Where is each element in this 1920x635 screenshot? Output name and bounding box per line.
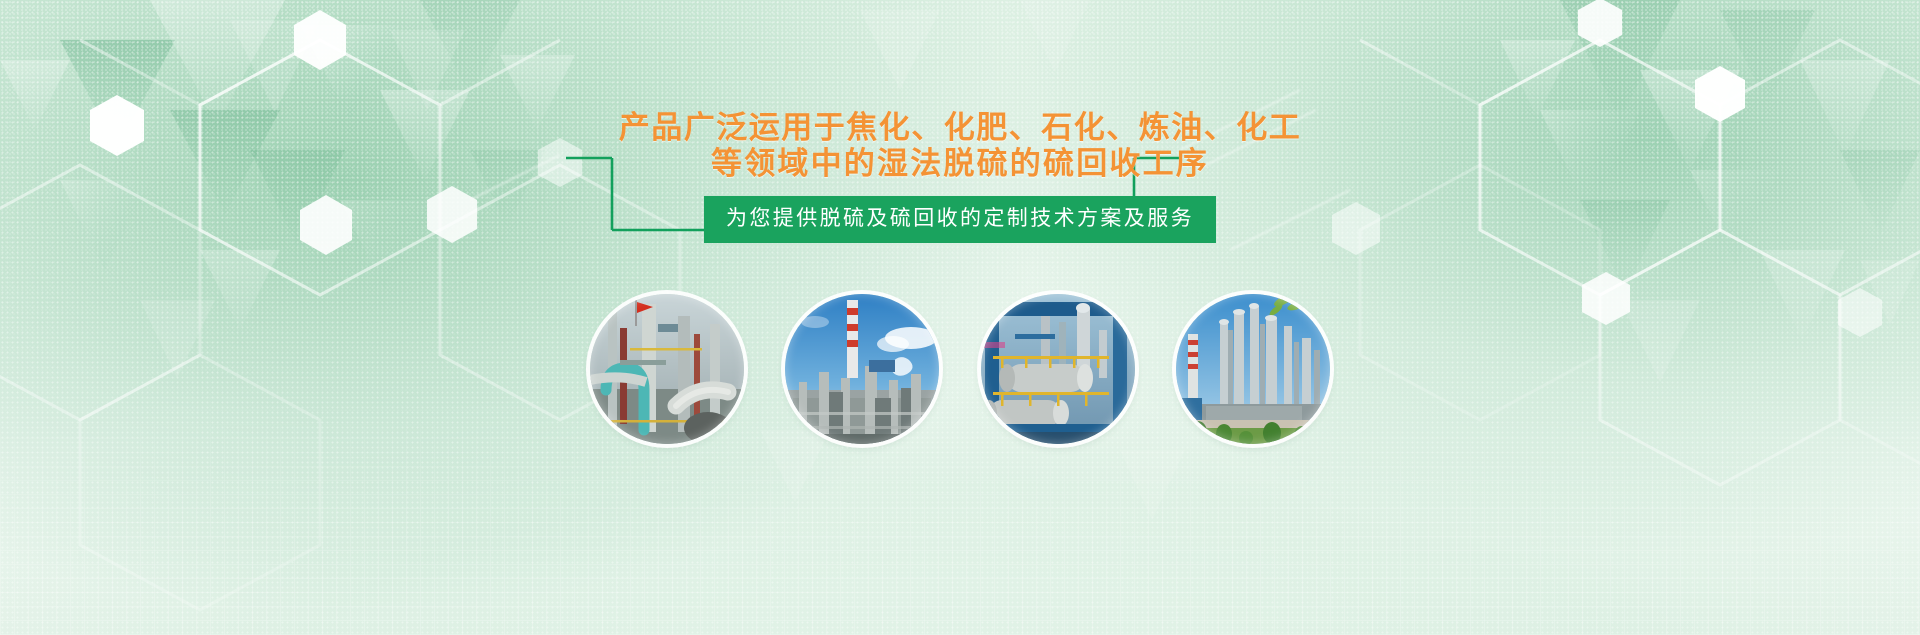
photo-desulfurization-plant-piping (590, 294, 744, 444)
subtitle-banner: 为您提供脱硫及硫回收的定制技术方案及服务 (704, 196, 1216, 243)
photo-sulfur-recovery-stack (785, 294, 939, 444)
headline-line-1: 产品广泛运用于焦化、化肥、石化、炼油、化工 (0, 110, 1920, 146)
headline-line-2: 等领域中的湿法脱硫的硫回收工序 (0, 146, 1920, 182)
promotional-banner: 产品广泛运用于焦化、化肥、石化、炼油、化工 等领域中的湿法脱硫的硫回收工序 为您… (0, 0, 1920, 635)
headline: 产品广泛运用于焦化、化肥、石化、炼油、化工 等领域中的湿法脱硫的硫回收工序 (0, 110, 1920, 182)
subtitle-text: 为您提供脱硫及硫回收的定制技术方案及服务 (726, 207, 1194, 231)
photo-gallery (590, 294, 1330, 444)
photo-refinery-towers (1176, 294, 1330, 444)
photo-chemical-storage-vessels (981, 294, 1135, 444)
